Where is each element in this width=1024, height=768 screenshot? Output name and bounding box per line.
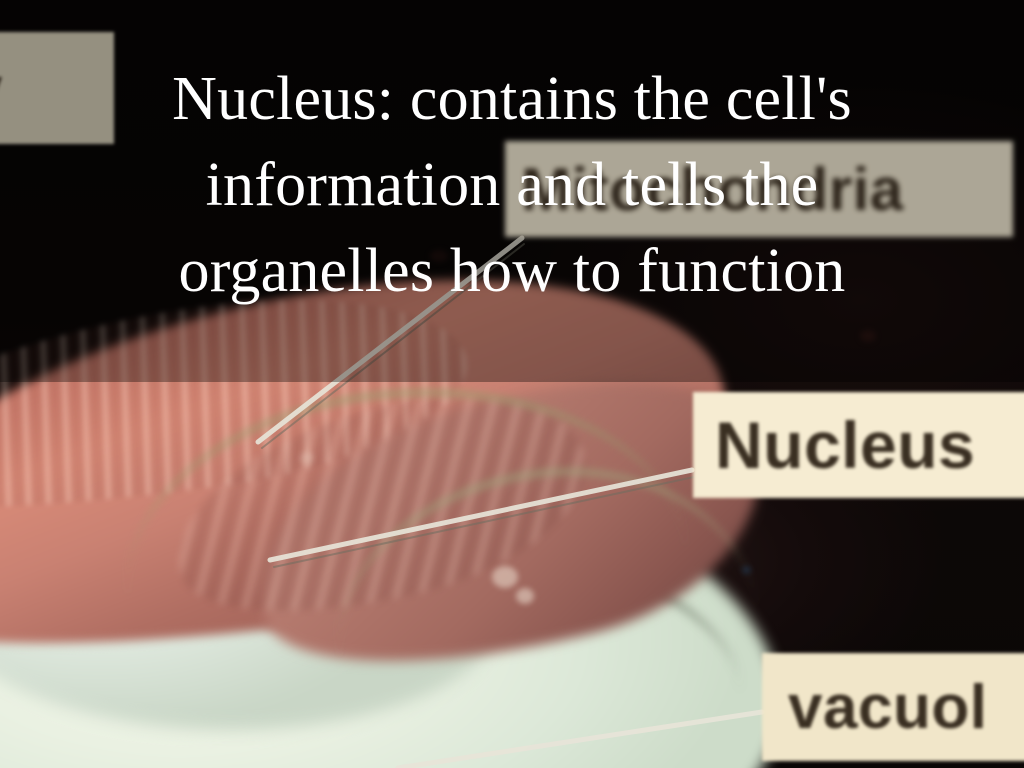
organelle-granule: [300, 452, 314, 464]
caption-line-1: Nucleus: contains the cell's: [0, 56, 1024, 142]
slide-caption: Nucleus: contains the cell's information…: [0, 56, 1024, 314]
photo-label-nucleus-text: Nucleus: [715, 407, 975, 483]
photo-label-nucleus: Nucleus: [693, 392, 1024, 498]
photo-label-vacuole: vacuol: [762, 653, 1024, 761]
caption-line-3: organelles how to function: [0, 228, 1024, 314]
caption-line-2: information and tells the: [0, 142, 1024, 228]
organelle-granule: [516, 588, 534, 604]
photo-label-vacuole-text: vacuol: [788, 672, 987, 743]
slide-canvas: y Mitochondria Nucleus vacuol Nucleus: c…: [0, 0, 1024, 768]
organelle-granule: [492, 566, 518, 588]
